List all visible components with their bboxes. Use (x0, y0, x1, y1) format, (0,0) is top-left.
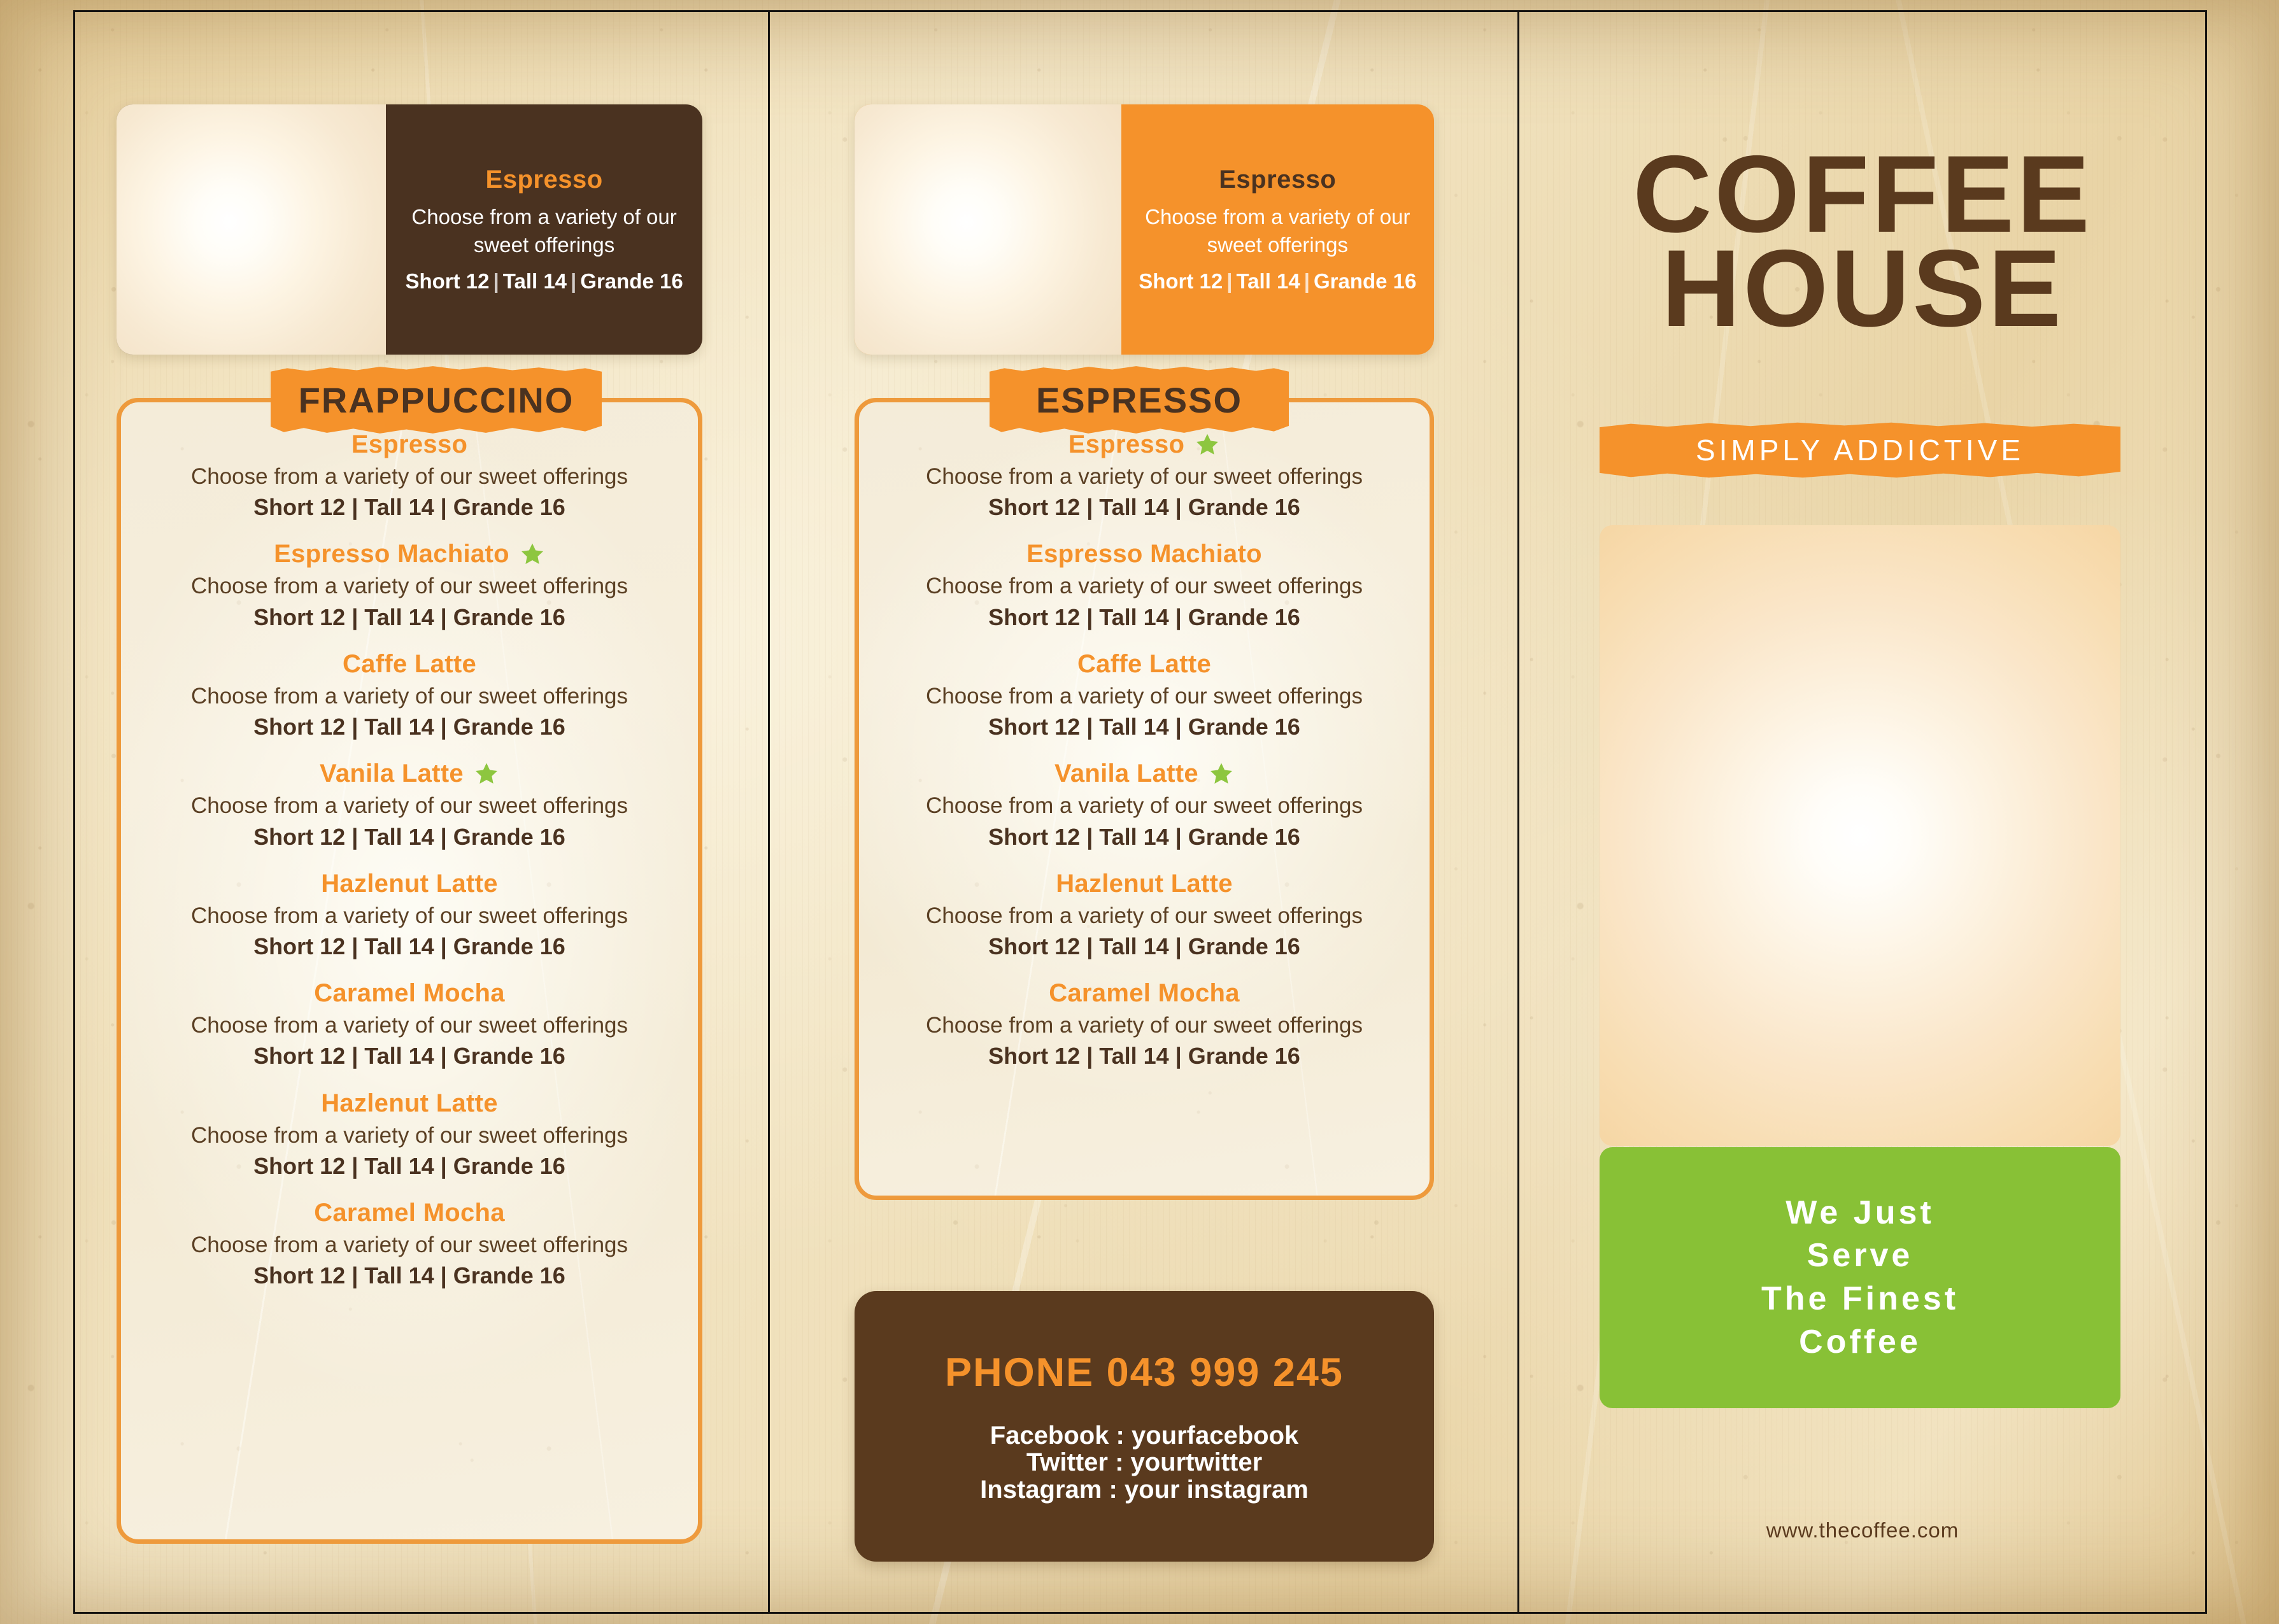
promo-size-tall: Tall 14 (1236, 269, 1300, 293)
menu-item-name-row: Hazlenut Latte (143, 870, 676, 898)
star-icon (1209, 761, 1234, 787)
size-separator-icon: | (434, 604, 453, 630)
menu-item-size-short: Short 12 (988, 604, 1080, 630)
menu-item-size-tall: Tall 14 (1099, 933, 1168, 959)
size-separator-icon: | (1169, 1043, 1188, 1069)
menu-item-description: Choose from a variety of our sweet offer… (143, 793, 676, 819)
menu-item-size-tall: Tall 14 (364, 714, 434, 740)
size-separator-icon: | (434, 1153, 453, 1179)
promo-size-tall: Tall 14 (503, 269, 567, 293)
menu-item-description: Choose from a variety of our sweet offer… (881, 574, 1408, 599)
menu-item-name: Hazlenut Latte (321, 870, 498, 898)
size-separator-icon: | (345, 1262, 364, 1289)
size-separator-icon: | (1223, 269, 1236, 293)
menu-item-size-grande: Grande 16 (453, 1043, 565, 1069)
menu-item-size-short: Short 12 (253, 714, 345, 740)
menu-item-description: Choose from a variety of our sweet offer… (143, 574, 676, 599)
size-separator-icon: | (567, 269, 580, 293)
promo-title: Espresso (1219, 166, 1336, 194)
menu-item-name: Caramel Mocha (314, 1199, 505, 1227)
menu-item-name: Hazlenut Latte (1056, 870, 1233, 898)
promo-size-grande: Grande 16 (1314, 269, 1416, 293)
menu-item-size-grande: Grande 16 (453, 494, 565, 520)
size-separator-icon: | (345, 494, 364, 520)
facebook-handle[interactable]: Facebook : yourfacebook (980, 1422, 1309, 1449)
menu-item-name: Vanila Latte (1054, 759, 1198, 788)
menu-item-sizes: Short 12|Tall 14|Grande 16 (143, 823, 676, 851)
menu-item-name-row: Espresso Machiato (143, 540, 676, 568)
menu-item-size-short: Short 12 (988, 933, 1080, 959)
menu-item-sizes: Short 12|Tall 14|Grande 16 (143, 933, 676, 960)
size-separator-icon: | (1169, 604, 1188, 630)
brand-logo: COFFEE HOUSE (1519, 148, 2206, 336)
menu-item-sizes: Short 12|Tall 14|Grande 16 (881, 713, 1408, 740)
menu-item-size-short: Short 12 (988, 824, 1080, 850)
menu-item-sizes: Short 12|Tall 14|Grande 16 (143, 713, 676, 740)
size-separator-icon: | (1169, 494, 1188, 520)
slogan-line: Coffee (1761, 1321, 1959, 1364)
menu-item-description: Choose from a variety of our sweet offer… (143, 464, 676, 490)
menu-item: Vanila LatteChoose from a variety of our… (143, 759, 676, 850)
size-separator-icon: | (345, 714, 364, 740)
menu-item: Hazlenut LatteChoose from a variety of o… (881, 870, 1408, 960)
menu-item-sizes: Short 12|Tall 14|Grande 16 (143, 1152, 676, 1180)
menu-item-name: Caffe Latte (343, 650, 476, 679)
menu-item: Caramel MochaChoose from a variety of ou… (143, 979, 676, 1070)
size-separator-icon: | (1080, 604, 1099, 630)
size-separator-icon: | (1080, 1043, 1099, 1069)
size-separator-icon: | (434, 714, 453, 740)
menu-item-size-short: Short 12 (253, 1262, 345, 1289)
slogan-box: We JustServeThe FinestCoffee (1600, 1147, 2120, 1408)
menu-item-name: Caffe Latte (1077, 650, 1211, 679)
size-separator-icon: | (1080, 933, 1099, 959)
menu-item-size-tall: Tall 14 (364, 824, 434, 850)
size-separator-icon: | (434, 824, 453, 850)
menu-item-size-grande: Grande 16 (1188, 933, 1300, 959)
contact-block: PHONE 043 999 245 Facebook : yourfaceboo… (855, 1291, 1434, 1562)
promo-size-grande: Grande 16 (580, 269, 683, 293)
menu-item-size-grande: Grande 16 (453, 933, 565, 959)
menu-item-name-row: Hazlenut Latte (881, 870, 1408, 898)
menu-item-size-short: Short 12 (253, 604, 345, 630)
size-separator-icon: | (434, 933, 453, 959)
menu-item-description: Choose from a variety of our sweet offer… (881, 464, 1408, 490)
menu-item-size-short: Short 12 (253, 824, 345, 850)
menu-item-size-tall: Tall 14 (1099, 714, 1168, 740)
promo-sizes: Short 12|Tall 14|Grande 16 (1139, 269, 1416, 293)
menu-item: Hazlenut LatteChoose from a variety of o… (143, 870, 676, 960)
menu-card-espresso: EspressoChoose from a variety of our swe… (855, 398, 1434, 1200)
menu-item-name-row: Caffe Latte (143, 650, 676, 679)
menu-item-size-tall: Tall 14 (364, 494, 434, 520)
slogan-text: We JustServeThe FinestCoffee (1761, 1192, 1959, 1364)
menu-item: Hazlenut LatteChoose from a variety of o… (143, 1089, 676, 1180)
size-separator-icon: | (1080, 824, 1099, 850)
menu-item-description: Choose from a variety of our sweet offer… (143, 1013, 676, 1038)
menu-item-size-tall: Tall 14 (364, 1043, 434, 1069)
menu-item-size-grande: Grande 16 (1188, 1043, 1300, 1069)
menu-item: Caffe LatteChoose from a variety of our … (881, 650, 1408, 740)
menu-item-name-row: Espresso (881, 430, 1408, 459)
menu-item-size-tall: Tall 14 (1099, 604, 1168, 630)
menu-item-size-tall: Tall 14 (364, 1262, 434, 1289)
promo-size-short: Short 12 (1139, 269, 1223, 293)
section-ribbon-espresso: ESPRESSO (990, 365, 1289, 434)
menu-item-size-short: Short 12 (253, 494, 345, 520)
promo-photo-placeholder (117, 104, 386, 355)
menu-item-size-grande: Grande 16 (453, 824, 565, 850)
menu-item-size-tall: Tall 14 (364, 933, 434, 959)
menu-item-name-row: Vanila Latte (881, 759, 1408, 788)
menu-item: Caramel MochaChoose from a variety of ou… (143, 1199, 676, 1289)
star-icon (520, 542, 545, 567)
menu-item-name: Hazlenut Latte (321, 1089, 498, 1118)
star-icon (474, 761, 499, 787)
menu-item-size-short: Short 12 (988, 714, 1080, 740)
menu-item-description: Choose from a variety of our sweet offer… (143, 1232, 676, 1258)
menu-card-frappuccino: EspressoChoose from a variety of our swe… (117, 398, 702, 1544)
menu-item-name-row: Hazlenut Latte (143, 1089, 676, 1118)
menu-item-name: Caramel Mocha (1049, 979, 1240, 1008)
size-separator-icon: | (1169, 933, 1188, 959)
menu-item-name: Espresso Machiato (1026, 540, 1262, 568)
menu-item-name-row: Espresso Machiato (881, 540, 1408, 568)
menu-item-size-grande: Grande 16 (1188, 824, 1300, 850)
menu-item-sizes: Short 12|Tall 14|Grande 16 (881, 823, 1408, 851)
menu-item-name-row: Vanila Latte (143, 759, 676, 788)
social-links: Facebook : yourfacebook Twitter : yourtw… (980, 1422, 1309, 1503)
panel-frappuccino: Espresso Choose from a variety of our sw… (73, 0, 768, 1624)
slogan-line: The Finest (1761, 1278, 1959, 1321)
menu-item-name-row: Caramel Mocha (881, 979, 1408, 1008)
menu-item: Espresso MachiatoChoose from a variety o… (143, 540, 676, 630)
menu-item-sizes: Short 12|Tall 14|Grande 16 (143, 1042, 676, 1070)
menu-item: Caramel MochaChoose from a variety of ou… (881, 979, 1408, 1070)
menu-item-size-grande: Grande 16 (453, 604, 565, 630)
menu-item-sizes: Short 12|Tall 14|Grande 16 (143, 493, 676, 521)
menu-item-list: EspressoChoose from a variety of our swe… (121, 402, 698, 1306)
menu-item-sizes: Short 12|Tall 14|Grande 16 (881, 933, 1408, 960)
menu-item-description: Choose from a variety of our sweet offer… (881, 903, 1408, 929)
size-separator-icon: | (1169, 824, 1188, 850)
instagram-handle[interactable]: Instagram : your instagram (980, 1476, 1309, 1503)
promo-sizes: Short 12|Tall 14|Grande 16 (405, 269, 683, 293)
promo-card-body: Espresso Choose from a variety of our sw… (1121, 104, 1434, 355)
menu-item-description: Choose from a variety of our sweet offer… (143, 1123, 676, 1148)
menu-item-description: Choose from a variety of our sweet offer… (881, 793, 1408, 819)
size-separator-icon: | (490, 269, 503, 293)
star-icon (1195, 432, 1220, 458)
size-separator-icon: | (1080, 714, 1099, 740)
menu-item-name-row: Caramel Mocha (143, 1199, 676, 1227)
promo-description: Choose from a variety of our sweet offer… (402, 203, 686, 259)
menu-item-sizes: Short 12|Tall 14|Grande 16 (143, 1262, 676, 1289)
menu-item-sizes: Short 12|Tall 14|Grande 16 (881, 1042, 1408, 1070)
menu-item: Vanila LatteChoose from a variety of our… (881, 759, 1408, 850)
promo-description: Choose from a variety of our sweet offer… (1138, 203, 1417, 259)
brand-logo-line-2: HOUSE (1519, 242, 2206, 336)
menu-item-description: Choose from a variety of our sweet offer… (881, 684, 1408, 709)
menu-item-sizes: Short 12|Tall 14|Grande 16 (881, 493, 1408, 521)
size-separator-icon: | (434, 1043, 453, 1069)
size-separator-icon: | (1300, 269, 1314, 293)
menu-item-size-grande: Grande 16 (1188, 604, 1300, 630)
size-separator-icon: | (434, 494, 453, 520)
menu-item-size-grande: Grande 16 (453, 1153, 565, 1179)
menu-item-description: Choose from a variety of our sweet offer… (143, 903, 676, 929)
menu-item-size-tall: Tall 14 (1099, 494, 1168, 520)
cover-photo-placeholder (1600, 525, 2120, 1146)
website-url[interactable]: www.thecoffee.com (1519, 1518, 2206, 1543)
section-ribbon-frappuccino: FRAPPUCCINO (271, 365, 602, 434)
size-separator-icon: | (345, 604, 364, 630)
menu-item-size-grande: Grande 16 (453, 714, 565, 740)
menu-item-size-short: Short 12 (988, 494, 1080, 520)
menu-item-sizes: Short 12|Tall 14|Grande 16 (143, 604, 676, 631)
menu-item: EspressoChoose from a variety of our swe… (143, 430, 676, 521)
menu-item-list: EspressoChoose from a variety of our swe… (859, 402, 1430, 1087)
promo-card-espresso: Espresso Choose from a variety of our sw… (855, 104, 1434, 355)
size-separator-icon: | (345, 824, 364, 850)
menu-item-size-tall: Tall 14 (1099, 824, 1168, 850)
menu-item-size-tall: Tall 14 (1099, 1043, 1168, 1069)
menu-item-size-grande: Grande 16 (1188, 714, 1300, 740)
menu-item: Caffe LatteChoose from a variety of our … (143, 650, 676, 740)
menu-item-size-short: Short 12 (988, 1043, 1080, 1069)
trifold-brochure: Espresso Choose from a variety of our sw… (0, 0, 2279, 1624)
menu-item-description: Choose from a variety of our sweet offer… (143, 684, 676, 709)
menu-item-name: Vanila Latte (320, 759, 464, 788)
menu-item-sizes: Short 12|Tall 14|Grande 16 (881, 604, 1408, 631)
menu-item-name: Caramel Mocha (314, 979, 505, 1008)
menu-item-name: Espresso Machiato (274, 540, 509, 568)
menu-item: Espresso MachiatoChoose from a variety o… (881, 540, 1408, 630)
size-separator-icon: | (345, 1043, 364, 1069)
slogan-line: We Just (1761, 1192, 1959, 1235)
phone-number[interactable]: PHONE 043 999 245 (945, 1350, 1344, 1395)
size-separator-icon: | (1080, 494, 1099, 520)
size-separator-icon: | (1169, 714, 1188, 740)
menu-item-name-row: Espresso (143, 430, 676, 459)
promo-photo-placeholder (855, 104, 1121, 355)
size-separator-icon: | (345, 1153, 364, 1179)
slogan-line: Serve (1761, 1234, 1959, 1278)
menu-item-name: Espresso (1069, 430, 1185, 459)
menu-item-name-row: Caramel Mocha (143, 979, 676, 1008)
panel-cover: COFFEE HOUSE SIMPLY ADDICTIVE We JustSer… (1519, 0, 2206, 1624)
promo-card-frappuccino: Espresso Choose from a variety of our sw… (117, 104, 702, 355)
twitter-handle[interactable]: Twitter : yourtwitter (980, 1449, 1309, 1476)
menu-item: EspressoChoose from a variety of our swe… (881, 430, 1408, 521)
promo-title: Espresso (486, 166, 603, 194)
menu-item-size-grande: Grande 16 (1188, 494, 1300, 520)
size-separator-icon: | (345, 933, 364, 959)
menu-item-name: Espresso (351, 430, 468, 459)
menu-item-size-short: Short 12 (253, 1153, 345, 1179)
size-separator-icon: | (434, 1262, 453, 1289)
brand-tagline-banner: SIMPLY ADDICTIVE (1600, 421, 2120, 479)
menu-item-size-tall: Tall 14 (364, 604, 434, 630)
menu-item-size-tall: Tall 14 (364, 1153, 434, 1179)
panel-espresso: Espresso Choose from a variety of our sw… (770, 0, 1517, 1624)
menu-item-size-grande: Grande 16 (453, 1262, 565, 1289)
promo-size-short: Short 12 (405, 269, 489, 293)
menu-item-size-short: Short 12 (253, 1043, 345, 1069)
promo-card-body: Espresso Choose from a variety of our sw… (386, 104, 702, 355)
menu-item-size-short: Short 12 (253, 933, 345, 959)
menu-item-name-row: Caffe Latte (881, 650, 1408, 679)
menu-item-description: Choose from a variety of our sweet offer… (881, 1013, 1408, 1038)
